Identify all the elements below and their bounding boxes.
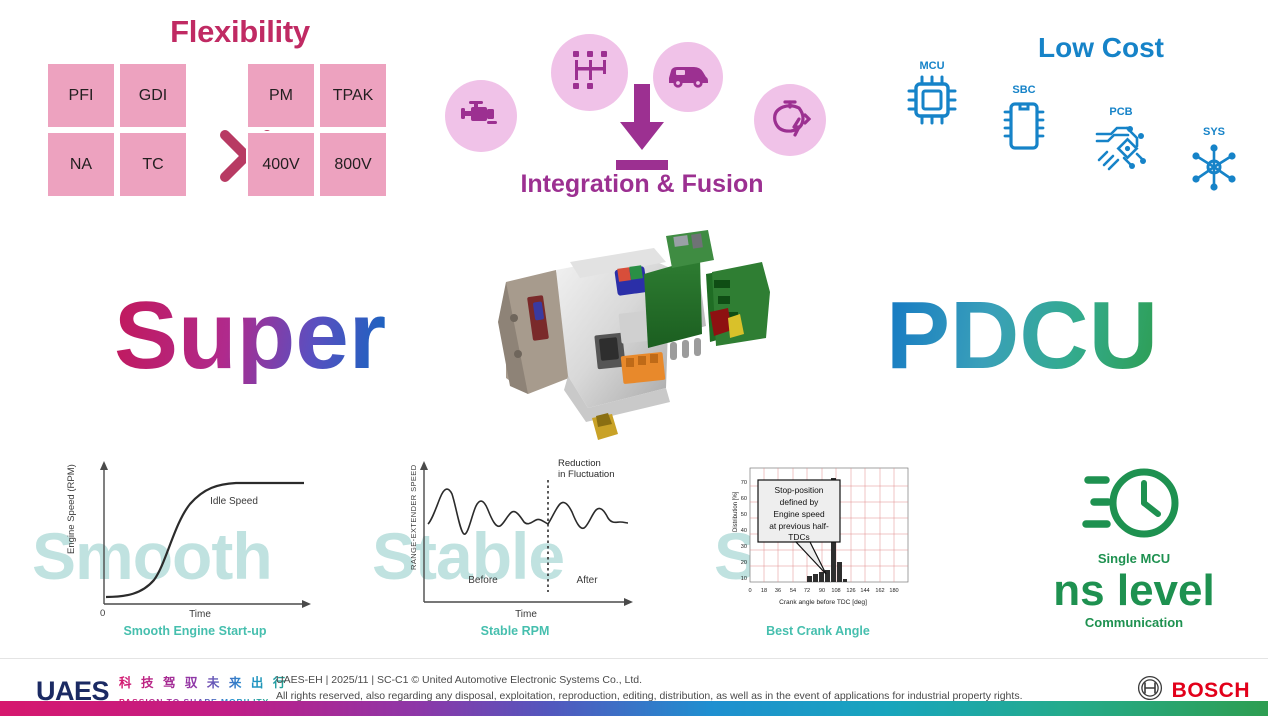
chart3-ytick: 50	[741, 512, 747, 518]
chart3-ytick: 60	[741, 496, 747, 502]
chart2-ylabel: RANGE-EXTENDER SPEED	[409, 464, 418, 570]
legal-line-1: UAES-EH | 2025/11 | SC-C1 © United Autom…	[276, 672, 1022, 688]
legal-text: UAES-EH | 2025/11 | SC-C1 © United Autom…	[276, 672, 1022, 705]
chart2-label-after: After	[576, 575, 598, 586]
down-arrow-icon	[608, 84, 676, 176]
chart1-xlabel: Time	[189, 609, 211, 618]
chart3-xtick: 0	[748, 588, 751, 594]
flexibility-section: Flexibility PFI GDI NA TC PM TPAK 400V 8…	[40, 14, 440, 214]
chart3-xtick: 54	[790, 588, 796, 594]
ns-level-section: Single MCU ns level Communication	[1018, 462, 1250, 644]
chip-label: PCB	[1082, 106, 1160, 118]
speed-clock-icon	[1018, 462, 1250, 549]
chart3-annotation-l4: at previous half-	[769, 521, 829, 531]
microchip-icon	[905, 74, 959, 135]
chart-best-crank-angle: Stop-position defined by Engine speed at…	[718, 462, 918, 638]
chart1-ylabel: Engine Speed (RPM)	[66, 464, 77, 554]
grid-cell[interactable]: PM	[246, 62, 316, 129]
grid-cell[interactable]: PFI	[46, 62, 116, 129]
chart2-label-before: Before	[468, 575, 498, 586]
chart3-ytick: 70	[741, 480, 747, 486]
hybrid-engine-icon	[769, 99, 811, 142]
ns-subtitle-top: Single MCU	[1018, 551, 1250, 566]
ns-main-label: ns level	[1018, 568, 1250, 614]
chart2-title: Stable RPM	[380, 624, 650, 638]
low-cost-section: Low Cost MCU SBC	[876, 14, 1264, 214]
integration-section: Integration & Fusion	[432, 12, 852, 212]
chip-label: SBC	[988, 84, 1060, 96]
chart3-xtick: 180	[889, 588, 898, 594]
footer-divider	[0, 658, 1268, 659]
chart3-xtick: 126	[846, 588, 855, 594]
chart3-ytick: 40	[741, 528, 747, 534]
chip-sys: SYS	[1176, 126, 1252, 210]
ic-chip-icon	[1001, 98, 1047, 159]
chart3-xtick: 108	[831, 588, 840, 594]
chip-label: SYS	[1176, 126, 1252, 138]
chart3-ytick: 30	[741, 544, 747, 550]
chart2-annotation-line1: Reduction	[558, 458, 601, 469]
chip-sbc: SBC	[988, 84, 1060, 172]
chart3-ylabel: Distribution [%]	[733, 491, 739, 532]
flexibility-title: Flexibility	[40, 14, 440, 50]
hybrid-engine-icon-bubble	[754, 84, 826, 156]
chart3-xtick: 144	[860, 588, 869, 594]
system-network-icon	[1187, 140, 1241, 199]
chip-mcu: MCU	[894, 60, 970, 150]
chart3-xtick: 72	[804, 588, 810, 594]
hero-word-pdcu: PDCU	[886, 288, 1158, 384]
chip-pcb: PCB	[1082, 106, 1160, 194]
chart3-ytick: 20	[741, 560, 747, 566]
chart-smooth-engine-startup: Engine Speed (RPM) Idle Speed 0 Time Smo…	[60, 458, 330, 638]
chart2-xlabel: Time	[515, 609, 537, 620]
chart3-xtick: 90	[819, 588, 825, 594]
chart1-annotation: Idle Speed	[210, 496, 258, 507]
grid-cell[interactable]: 400V	[246, 131, 316, 198]
hero-word-super: Super	[114, 288, 386, 384]
chart1-xtick-0: 0	[100, 608, 105, 618]
chart3-xtick: 36	[775, 588, 781, 594]
chart3-xtick: 162	[875, 588, 884, 594]
circuit-board-icon	[1093, 120, 1149, 181]
grid-cell[interactable]: GDI	[118, 62, 188, 129]
chart3-title: Best Crank Angle	[718, 624, 918, 638]
bosch-wordmark: BOSCH	[1172, 679, 1250, 703]
engine-icon-bubble	[445, 80, 517, 152]
grid-cell[interactable]: 800V	[318, 131, 388, 198]
chart1-title: Smooth Engine Start-up	[60, 624, 330, 638]
chart3-annotation-l3: Engine speed	[773, 509, 825, 519]
grid-cell[interactable]: NA	[46, 131, 116, 198]
chart-stable-rpm: RANGE-EXTENDER SPEED Reduction in Fluctu…	[380, 452, 650, 638]
integration-title: Integration & Fusion	[407, 170, 877, 199]
chart3-annotation-l2: defined by	[780, 497, 819, 507]
uaes-tagline-cn: 科 技 驾 驭 未 来 出 行	[119, 676, 288, 690]
chart3-annotation-l1: Stop-position	[775, 485, 824, 495]
engine-icon	[461, 97, 501, 136]
ns-subtitle-bottom: Communication	[1018, 615, 1250, 630]
footer: UAES 科 技 驾 驭 未 来 出 行 PASSION TO SHAPE MO…	[0, 658, 1268, 716]
chart3-ytick: 10	[741, 576, 747, 582]
gearbox-icon	[569, 49, 611, 96]
chip-label: MCU	[894, 60, 970, 72]
grid-cell[interactable]: TC	[118, 131, 188, 198]
slide-root: Flexibility PFI GDI NA TC PM TPAK 400V 8…	[0, 0, 1268, 716]
exploded-control-unit-image	[470, 226, 810, 448]
grid-cell[interactable]: TPAK	[318, 62, 388, 129]
low-cost-title: Low Cost	[936, 32, 1266, 64]
chart3-xtick: 18	[761, 588, 767, 594]
chart2-annotation-line2: in Fluctuation	[558, 469, 615, 480]
chart3-xlabel: Crank angle before TDC [deg]	[779, 599, 867, 606]
brand-gradient-bar	[0, 701, 1268, 716]
chart3-annotation-l5: TDCs	[788, 532, 809, 542]
